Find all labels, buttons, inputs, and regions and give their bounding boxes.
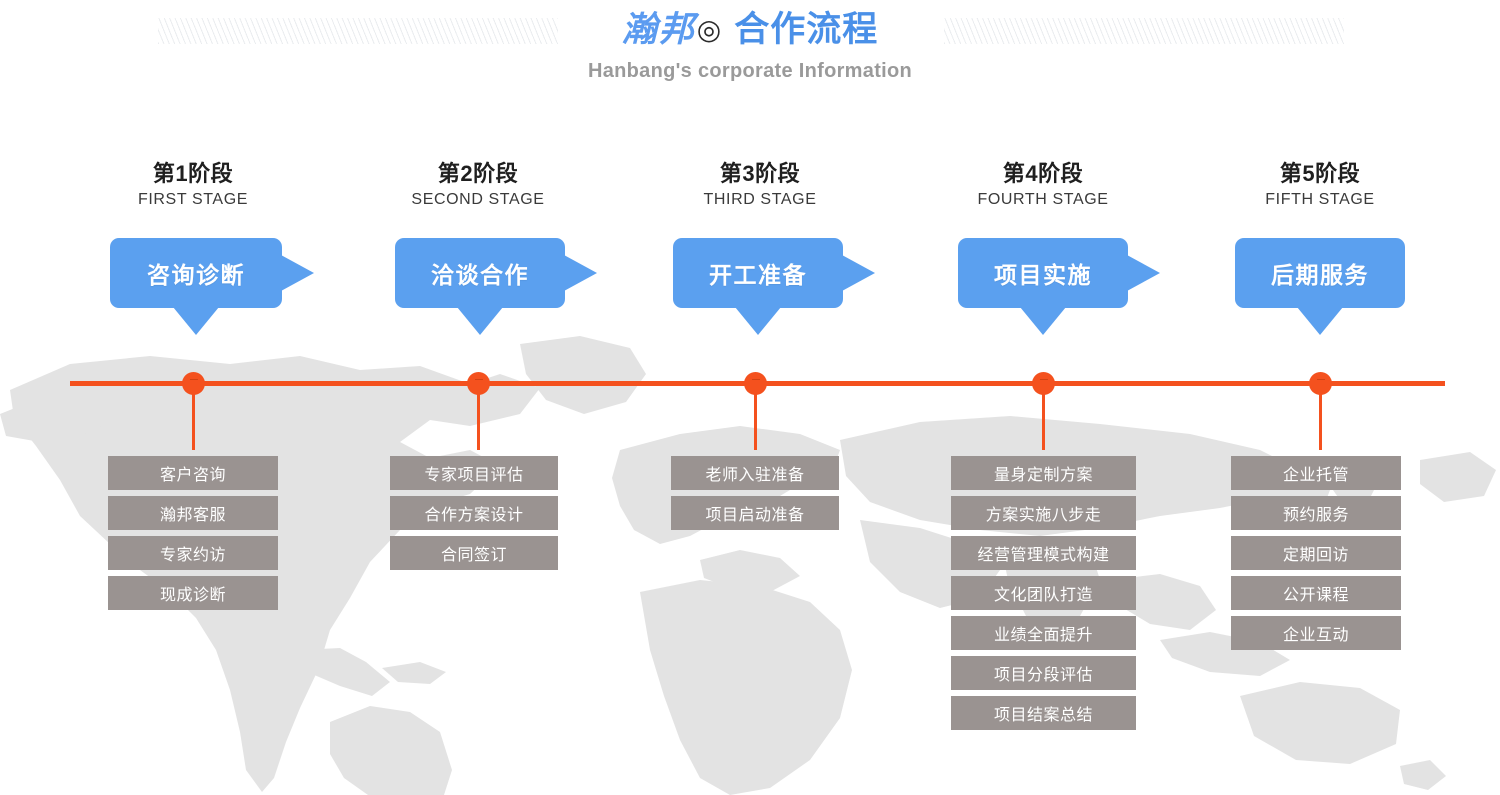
stage-items-4: 量身定制方案 方案实施八步走 经营管理模式构建 文化团队打造 业绩全面提升 项目… [951,456,1136,736]
stage-callout-label-5: 后期服务 [1271,256,1369,290]
stage-header-5: 第5阶段 FIFTH STAGE [1200,160,1440,212]
stage-header-3: 第3阶段 THIRD STAGE [640,160,880,212]
brand-name: 瀚邦 [622,9,696,50]
stage-items-1: 客户咨询 瀚邦客服 专家约访 现成诊断 [108,456,278,616]
page-header: 瀚邦◎合作流程 Hanbang's corporate Information [0,0,1500,105]
callout-tail-icon-1 [173,307,219,335]
stage-item[interactable]: 量身定制方案 [951,456,1136,490]
timeline-connector-3 [754,384,757,450]
stage-item[interactable]: 业绩全面提升 [951,616,1136,650]
brand-mark-icon: ◎ [696,14,724,45]
stage-callout-label-3: 开工准备 [709,256,807,290]
stage-item[interactable]: 合同签订 [390,536,558,570]
timeline-connector-5 [1319,384,1322,450]
stage-title-en-1: FIRST STAGE [73,188,313,212]
stage-header-1: 第1阶段 FIRST STAGE [73,160,313,212]
callout-tail-icon-5 [1297,307,1343,335]
stage-callout-label-1: 咨询诊断 [147,256,245,290]
timeline-connector-1 [192,384,195,450]
stage-item[interactable]: 经营管理模式构建 [951,536,1136,570]
title-main-text: 合作流程 [724,10,878,49]
stage-item[interactable]: 企业托管 [1231,456,1401,490]
infographic-canvas: 瀚邦◎合作流程 Hanbang's corporate Information … [0,0,1500,795]
page-subtitle: Hanbang's corporate Information [0,60,1500,83]
stage-callout-2[interactable]: 洽谈合作 [395,238,565,308]
stage-item[interactable]: 企业互动 [1231,616,1401,650]
stage-items-3: 老师入驻准备 项目启动准备 [671,456,839,536]
stage-title-en-3: THIRD STAGE [640,188,880,212]
stage-item[interactable]: 专家项目评估 [390,456,558,490]
stage-items-5: 企业托管 预约服务 定期回访 公开课程 企业互动 [1231,456,1401,656]
stage-title-cn-5: 第5阶段 [1200,160,1440,188]
stage-header-2: 第2阶段 SECOND STAGE [358,160,598,212]
stage-item[interactable]: 现成诊断 [108,576,278,610]
arrow-right-icon-2 [564,255,597,291]
arrow-right-icon-1 [281,255,314,291]
stage-item[interactable]: 方案实施八步走 [951,496,1136,530]
stage-callout-4[interactable]: 项目实施 [958,238,1128,308]
stage-callout-3[interactable]: 开工准备 [673,238,843,308]
stage-item[interactable]: 专家约访 [108,536,278,570]
arrow-right-icon-3 [842,255,875,291]
page-title: 瀚邦◎合作流程 [0,8,1500,52]
stage-item[interactable]: 项目结案总结 [951,696,1136,730]
stage-item[interactable]: 老师入驻准备 [671,456,839,490]
callout-tail-icon-2 [457,307,503,335]
timeline-connector-4 [1042,384,1045,450]
stage-callout-5[interactable]: 后期服务 [1235,238,1405,308]
stage-title-en-2: SECOND STAGE [358,188,598,212]
timeline-connector-2 [477,384,480,450]
stage-item[interactable]: 预约服务 [1231,496,1401,530]
stage-item[interactable]: 合作方案设计 [390,496,558,530]
callout-tail-icon-3 [735,307,781,335]
stage-item[interactable]: 瀚邦客服 [108,496,278,530]
stage-header-4: 第4阶段 FOURTH STAGE [923,160,1163,212]
stage-title-cn-1: 第1阶段 [73,160,313,188]
stage-title-cn-2: 第2阶段 [358,160,598,188]
stage-item[interactable]: 定期回访 [1231,536,1401,570]
callout-tail-icon-4 [1020,307,1066,335]
stage-item[interactable]: 文化团队打造 [951,576,1136,610]
stage-title-cn-4: 第4阶段 [923,160,1163,188]
stage-item[interactable]: 项目分段评估 [951,656,1136,690]
arrow-right-icon-4 [1127,255,1160,291]
stage-callout-1[interactable]: 咨询诊断 [110,238,282,308]
stage-title-cn-3: 第3阶段 [640,160,880,188]
stage-title-en-5: FIFTH STAGE [1200,188,1440,212]
stage-callout-label-2: 洽谈合作 [431,256,529,290]
stage-item[interactable]: 项目启动准备 [671,496,839,530]
stage-items-2: 专家项目评估 合作方案设计 合同签订 [390,456,558,576]
stage-callout-label-4: 项目实施 [994,256,1092,290]
stage-title-en-4: FOURTH STAGE [923,188,1163,212]
stage-item[interactable]: 公开课程 [1231,576,1401,610]
stage-item[interactable]: 客户咨询 [108,456,278,490]
